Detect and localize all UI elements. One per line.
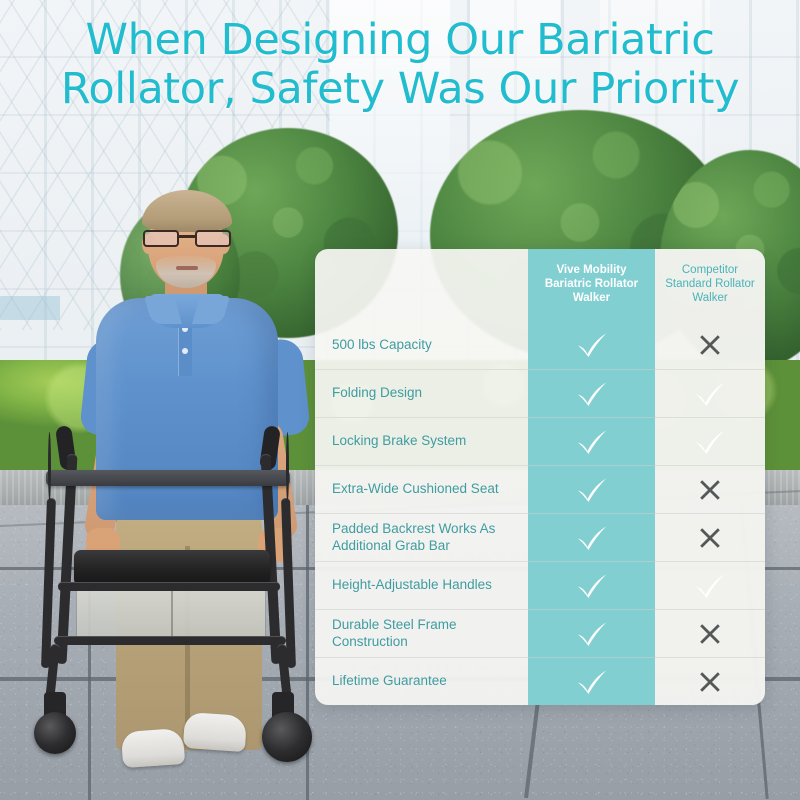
x-icon bbox=[698, 333, 722, 357]
walker-cushioned-seat bbox=[74, 550, 270, 586]
check-icon bbox=[575, 524, 609, 552]
walker-padded-backrest bbox=[46, 470, 290, 486]
vive-cell bbox=[528, 476, 655, 504]
hair bbox=[142, 190, 232, 232]
walker-wheel-right bbox=[262, 712, 312, 762]
check-icon bbox=[575, 620, 609, 648]
vive-column-header: Vive Mobility Bariatric Rollator Walker bbox=[528, 249, 655, 321]
eyeglass-lens-icon bbox=[143, 230, 179, 247]
headline-line-1: When Designing Our Bariatric bbox=[86, 15, 715, 65]
table-body: 500 lbs CapacityFolding DesignLocking Br… bbox=[315, 321, 765, 705]
check-icon bbox=[575, 428, 609, 456]
vive-cell bbox=[528, 331, 655, 359]
competitor-cell bbox=[655, 333, 765, 357]
competitor-cell bbox=[655, 380, 765, 408]
walker-cross-brace-lower bbox=[54, 636, 286, 645]
competitor-cell bbox=[655, 670, 765, 694]
table-row: Folding Design bbox=[315, 369, 765, 417]
competitor-cell bbox=[655, 622, 765, 646]
table-row: Locking Brake System bbox=[315, 417, 765, 465]
table-row: Height-Adjustable Handles bbox=[315, 561, 765, 609]
eyeglass-lens-icon bbox=[195, 230, 231, 247]
eyeglass-bridge-icon bbox=[179, 235, 195, 238]
vive-cell bbox=[528, 572, 655, 600]
vive-cell bbox=[528, 668, 655, 696]
check-icon bbox=[575, 331, 609, 359]
check-icon bbox=[575, 572, 609, 600]
window-icon bbox=[0, 296, 60, 320]
competitor-cell bbox=[655, 526, 765, 550]
vive-cell bbox=[528, 380, 655, 408]
shirt-button-icon bbox=[182, 348, 188, 354]
x-icon bbox=[698, 478, 722, 502]
table-row: 500 lbs Capacity bbox=[315, 321, 765, 369]
competitor-cell bbox=[655, 572, 765, 600]
competitor-column-header: Competitor Standard Rollator Walker bbox=[655, 249, 765, 321]
table-row: Lifetime Guarantee bbox=[315, 657, 765, 705]
walker-storage-pouch bbox=[76, 588, 266, 638]
brake-cable-right bbox=[286, 432, 289, 502]
vive-cell bbox=[528, 524, 655, 552]
feature-column-header bbox=[315, 249, 528, 321]
feature-label: Padded Backrest Works As Additional Grab… bbox=[315, 521, 528, 554]
table-row: Padded Backrest Works As Additional Grab… bbox=[315, 513, 765, 561]
polo-collar bbox=[148, 294, 226, 328]
headline-line-2: Rollator, Safety Was Our Priority bbox=[0, 65, 800, 114]
eyeglasses-icon bbox=[143, 230, 231, 247]
feature-label: Height-Adjustable Handles bbox=[315, 577, 528, 593]
feature-label: Durable Steel Frame Construction bbox=[315, 617, 528, 650]
check-icon bbox=[575, 476, 609, 504]
x-icon bbox=[698, 670, 722, 694]
x-icon bbox=[698, 622, 722, 646]
table-row: Durable Steel Frame Construction bbox=[315, 609, 765, 657]
walker-wheel-left bbox=[34, 712, 76, 754]
brake-cable-left bbox=[48, 432, 51, 502]
vive-cell bbox=[528, 620, 655, 648]
rollator-walker bbox=[18, 420, 318, 780]
check-icon bbox=[693, 572, 727, 600]
competitor-cell bbox=[655, 428, 765, 456]
check-icon bbox=[693, 428, 727, 456]
feature-label: 500 lbs Capacity bbox=[315, 337, 528, 353]
feature-label: Lifetime Guarantee bbox=[315, 673, 528, 689]
competitor-cell bbox=[655, 478, 765, 502]
x-icon bbox=[698, 526, 722, 550]
check-icon bbox=[575, 668, 609, 696]
feature-label: Folding Design bbox=[315, 385, 528, 401]
table-header-row: Vive Mobility Bariatric Rollator Walker … bbox=[315, 249, 765, 321]
promotional-infographic: When Designing Our Bariatric Rollator, S… bbox=[0, 0, 800, 800]
vive-cell bbox=[528, 428, 655, 456]
feature-label: Locking Brake System bbox=[315, 433, 528, 449]
mouth bbox=[176, 266, 198, 270]
walker-cross-brace-upper bbox=[58, 582, 280, 591]
check-icon bbox=[693, 380, 727, 408]
table-row: Extra-Wide Cushioned Seat bbox=[315, 465, 765, 513]
feature-label: Extra-Wide Cushioned Seat bbox=[315, 481, 528, 497]
comparison-table: Vive Mobility Bariatric Rollator Walker … bbox=[315, 249, 765, 705]
page-title: When Designing Our Bariatric Rollator, S… bbox=[0, 16, 800, 114]
check-icon bbox=[575, 380, 609, 408]
